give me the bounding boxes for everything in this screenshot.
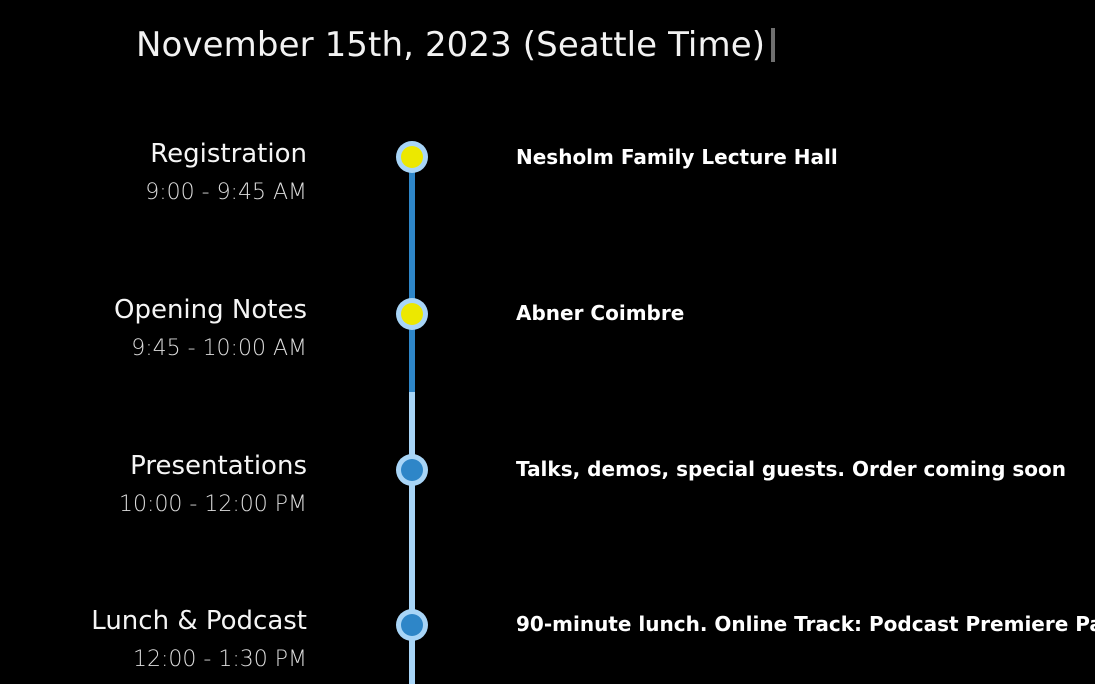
schedule-item-description: Talks, demos, special guests. Order comi… [516,456,1095,482]
page-title-text: November 15th, 2023 (Seattle Time) [136,22,765,68]
schedule-item-title: Opening Notes [0,293,307,327]
schedule-row-left: Registration 9:00 - 9:45 AM [0,137,307,208]
schedule-row-right: Nesholm Family Lecture Hall [516,144,1095,170]
schedule-item-title: Lunch & Podcast [0,604,307,638]
schedule-item-time: 10:00 - 12:00 PM [0,490,307,520]
schedule-row-left: Opening Notes 9:45 - 10:00 AM [0,293,307,364]
schedule-row-right: 90-minute lunch. Online Track: Podcast P… [516,611,1095,637]
schedule-row-left: Lunch & Podcast 12:00 - 1:30 PM [0,604,307,675]
timeline-marker-upcoming[interactable] [396,454,428,486]
timeline-marker-dot-icon [401,146,423,168]
schedule-row-right: Abner Coimbre [516,300,1095,326]
schedule-item-time: 9:45 - 10:00 AM [0,334,307,364]
schedule-item-time: 12:00 - 1:30 PM [0,645,307,675]
schedule-item-title: Presentations [0,449,307,483]
schedule-item-title: Registration [0,137,307,171]
timeline-marker-done[interactable] [396,298,428,330]
timeline-marker-dot-icon [401,303,423,325]
schedule-page: November 15th, 2023 (Seattle Time) Regis… [0,0,1095,684]
schedule-row-left: Presentations 10:00 - 12:00 PM [0,449,307,520]
timeline-marker-upcoming[interactable] [396,609,428,641]
timeline-spine-progress [409,157,415,392]
timeline-marker-dot-icon [401,459,423,481]
schedule-item-time: 9:00 - 9:45 AM [0,178,307,208]
text-cursor-icon [771,28,775,62]
timeline-marker-dot-icon [401,614,423,636]
schedule-item-description: Nesholm Family Lecture Hall [516,144,1095,170]
schedule-row-right: Talks, demos, special guests. Order comi… [516,456,1095,482]
timeline-marker-done[interactable] [396,141,428,173]
page-title: November 15th, 2023 (Seattle Time) [136,22,775,68]
schedule-item-description: Abner Coimbre [516,300,1095,326]
schedule-item-description: 90-minute lunch. Online Track: Podcast P… [516,611,1095,637]
